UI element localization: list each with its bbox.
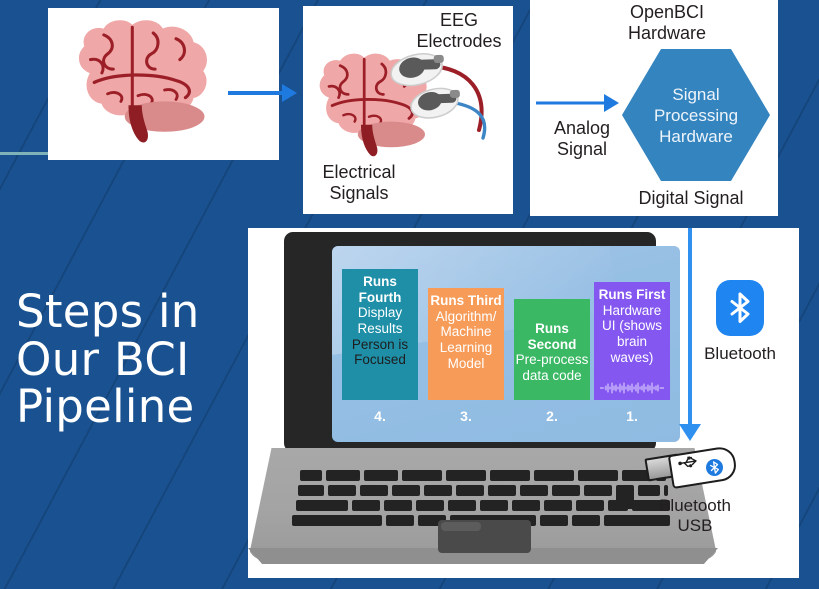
analog-signal-label: Analog Signal	[536, 118, 628, 160]
eeg-label-line1: EEG	[407, 10, 511, 31]
bluetooth-icon	[708, 460, 721, 475]
pipeline-block-2[interactable]: Runs Second Pre-process data code	[514, 299, 590, 400]
brainwave-icon	[600, 381, 664, 395]
block1-order-line1: Runs First	[594, 287, 670, 303]
pipeline-blocks: Runs Fourth Display Results Person is Fo…	[332, 246, 680, 442]
openbci-title-line1: OpenBCI	[592, 2, 742, 23]
analog-label-line2: Signal	[536, 139, 628, 160]
block4-dark-line1: Person is	[342, 337, 418, 353]
bluetooth-caption: Bluetooth	[688, 344, 792, 364]
electrical-signals-label: Electrical Signals	[305, 162, 413, 204]
block4-line2: Results	[342, 321, 418, 337]
digital-signal-text: Digital Signal	[608, 188, 774, 209]
left-accent-line	[0, 152, 52, 155]
analog-label-line1: Analog	[536, 118, 628, 139]
bluetooth-caption-text: Bluetooth	[688, 344, 792, 364]
panel-openbci-hardware: OpenBCI Hardware Analog Signal Signal Pr…	[530, 0, 778, 216]
panel-eeg-electrodes: EEG Electrodes Electrical Signals	[303, 6, 513, 214]
usb-caption-line1: Bluetooth	[640, 496, 750, 516]
block4-dark-line2: Focused	[342, 352, 418, 368]
title-line1: Steps in	[16, 288, 241, 336]
block3-line4: Model	[428, 356, 504, 372]
laptop-trackpad[interactable]	[438, 520, 531, 553]
signal-processing-hexagon: Signal Processing Hardware	[620, 47, 772, 184]
block1-line4: waves)	[594, 350, 670, 366]
eeg-label-line2: Electrodes	[407, 31, 511, 52]
panel-brain-illustration	[48, 8, 279, 160]
pipeline-block-3[interactable]: Runs Third Algorithm/ Machine Learning M…	[428, 288, 504, 400]
openbci-title-line2: Hardware	[592, 23, 742, 44]
pipeline-block-4[interactable]: Runs Fourth Display Results Person is Fo…	[342, 269, 418, 400]
page-title: Steps in Our BCI Pipeline	[16, 288, 241, 431]
block2-line1: Pre-process	[514, 352, 590, 368]
keyboard-row-3	[296, 500, 670, 511]
block3-line3: Learning	[428, 340, 504, 356]
openbci-title-label: OpenBCI Hardware	[592, 2, 742, 44]
block2-line2: data code	[514, 368, 590, 384]
block4-order-line2: Fourth	[342, 290, 418, 306]
block1-line3: brain	[594, 334, 670, 350]
keyboard-row-2	[298, 485, 668, 496]
block4-order-line1: Runs	[342, 274, 418, 290]
usb-caption-line2: USB	[640, 516, 750, 536]
laptop-illustration: Runs Fourth Display Results Person is Fo…	[248, 228, 799, 578]
bluetooth-usb-caption: Bluetooth USB	[640, 496, 750, 537]
title-line3: Pipeline	[16, 383, 241, 431]
bluetooth-icon-badge	[716, 280, 764, 336]
pipeline-number-row: 4. 3. 2. 1.	[332, 408, 680, 430]
block2-number: 2.	[514, 408, 590, 424]
bluetooth-usb-dongle	[646, 446, 736, 490]
block1-line1: Hardware	[594, 303, 670, 319]
block3-line1: Algorithm/	[428, 309, 504, 325]
slide-canvas: EEG Electrodes Electrical Signals OpenBC…	[0, 0, 819, 589]
eeg-electrodes-label: EEG Electrodes	[407, 10, 511, 52]
hexagon-shape	[620, 47, 772, 184]
brain-icon	[48, 8, 279, 160]
electrical-label-line1: Electrical	[305, 162, 413, 183]
title-line2: Our BCI	[16, 336, 241, 384]
block3-number: 3.	[428, 408, 504, 424]
bluetooth-icon	[727, 292, 753, 324]
laptop-screen: Runs Fourth Display Results Person is Fo…	[332, 246, 680, 442]
block2-order-line2: Second	[514, 337, 590, 353]
block4-line1: Display	[342, 305, 418, 321]
laptop-lid: Runs Fourth Display Results Person is Fo…	[284, 232, 656, 452]
block3-order-line1: Runs Third	[428, 293, 504, 309]
panel-laptop-pipeline: Runs Fourth Display Results Person is Fo…	[248, 228, 799, 578]
digital-signal-label: Digital Signal	[608, 188, 774, 209]
block4-number: 4.	[342, 408, 418, 424]
block3-line2: Machine	[428, 324, 504, 340]
pipeline-block-1[interactable]: Runs First Hardware UI (shows brain wave…	[594, 282, 670, 400]
block1-line2: UI (shows	[594, 318, 670, 334]
block1-number: 1.	[594, 408, 670, 424]
keyboard-row-1	[300, 470, 666, 481]
electrical-label-line2: Signals	[305, 183, 413, 204]
block2-order-line1: Runs	[514, 321, 590, 337]
